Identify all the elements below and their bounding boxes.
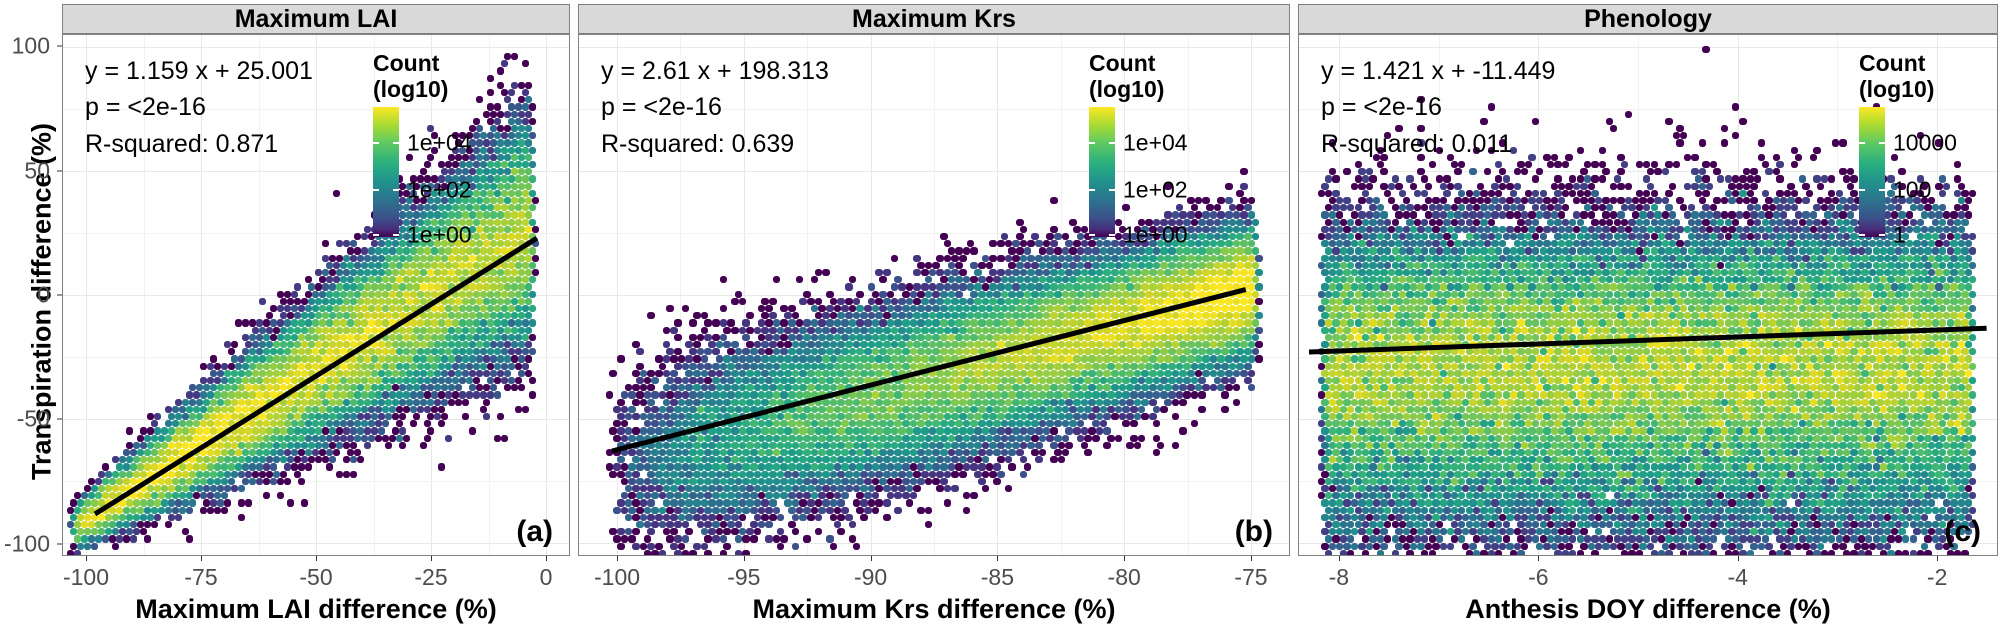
hexbin-cell — [1898, 413, 1905, 420]
hexbin-cell — [929, 269, 937, 276]
hexbin-cell — [632, 471, 640, 478]
hexbin-cell — [849, 463, 857, 470]
hexbin-cell — [970, 305, 978, 312]
hexbin-cell — [731, 499, 739, 506]
hexbin-cell — [1062, 319, 1070, 326]
hexbin-cell — [508, 348, 515, 355]
hexbin-cell — [1073, 283, 1081, 290]
hexbin-cell — [739, 528, 747, 535]
hexbin-cell — [1429, 406, 1436, 413]
panel-title-a: Maximum LAI — [235, 7, 398, 32]
hexbin-cell — [273, 427, 280, 434]
hexbin-cell — [203, 399, 210, 406]
hexbin-cell — [1699, 399, 1706, 406]
hexbin-cell — [1172, 399, 1180, 406]
hexbin-cell — [697, 377, 705, 384]
hexbin-cell — [1027, 355, 1035, 362]
hexbin-cell — [621, 420, 629, 427]
hexbin-cell — [1016, 391, 1024, 398]
hexbin-cell — [522, 319, 529, 326]
hexbin-cell — [427, 283, 434, 290]
hexbin-cell — [413, 413, 420, 420]
hexbin-cell — [792, 442, 800, 449]
hexbin-cell — [1643, 435, 1650, 442]
hexbin-cell — [902, 334, 910, 341]
hexbin-cell — [1035, 442, 1043, 449]
hexbin-cell — [1081, 298, 1089, 305]
hexbin-cell — [837, 370, 845, 377]
hexbin-cell — [487, 334, 494, 341]
hexbin-cell — [1187, 370, 1195, 377]
hexbin-cell — [392, 355, 399, 362]
hexbin-cell — [245, 471, 252, 478]
hexbin-cell — [1321, 499, 1328, 506]
hexbin-cell — [746, 528, 754, 535]
hexbin-cell — [803, 348, 811, 355]
hexbin-cell — [689, 463, 697, 470]
hexbin-cell — [312, 305, 319, 312]
hexbin-cell — [508, 319, 515, 326]
hexbin-cell — [1073, 413, 1081, 420]
hexbin-cell — [1688, 262, 1695, 269]
hexbin-cell — [1050, 399, 1058, 406]
hexbin-cell — [119, 456, 126, 463]
hexbin-cell — [350, 442, 357, 449]
hexbin-cell — [417, 334, 424, 341]
hexbin-cell — [1054, 406, 1062, 413]
hexbin-cell — [1065, 255, 1073, 262]
hexbin-cell — [1126, 327, 1134, 334]
hexbin-cell — [312, 435, 319, 442]
hexbin-cell — [1221, 348, 1229, 355]
hexbin-cell — [1843, 305, 1850, 312]
equation-a: y = 1.159 x + 25.001 — [85, 53, 313, 89]
hexbin-cell — [494, 334, 501, 341]
hexbin-cell — [518, 341, 525, 348]
hexbin-cell — [1447, 442, 1454, 449]
hexbin-cell — [228, 406, 235, 413]
hexbin-cell — [382, 291, 389, 298]
hexbin-cell — [758, 463, 766, 470]
hexbin-cell — [1506, 370, 1513, 377]
hexbin-cell — [1551, 442, 1558, 449]
hexbin-cell — [704, 363, 712, 370]
hexbin-cell — [1248, 298, 1256, 305]
hexbin-cell — [997, 471, 1005, 478]
hexbin-cell — [746, 399, 754, 406]
hexbin-cell — [350, 240, 357, 247]
hexbin-cell — [455, 312, 462, 319]
hexbin-cell — [1954, 391, 1961, 398]
hexbin-cell — [504, 312, 511, 319]
hexbin-cell — [1005, 327, 1013, 334]
hexbin-cell — [441, 355, 448, 362]
hexbin-cell — [894, 319, 902, 326]
hexbin-cell — [515, 305, 522, 312]
hexbin-cell — [913, 255, 921, 262]
hexbin-cell — [336, 283, 343, 290]
hexbin-cell — [864, 391, 872, 398]
hexbin-cell — [357, 413, 364, 420]
hexbin-cell — [872, 334, 880, 341]
hexbin-cell — [1081, 399, 1089, 406]
hexbin-cell — [1092, 334, 1100, 341]
hexbin-cell — [476, 327, 483, 334]
hexbin-cell — [1031, 233, 1039, 240]
hexbin-cell — [898, 442, 906, 449]
hexbin-cell — [214, 406, 221, 413]
hexbin-cell — [1240, 255, 1248, 262]
hexbin-cell — [925, 377, 933, 384]
hexbin-cell — [708, 456, 716, 463]
hexbin-cell — [818, 377, 826, 384]
hexbin-cell — [389, 305, 396, 312]
hexbin-cell — [434, 269, 441, 276]
hexbin-cell — [1595, 327, 1602, 334]
hexbin-cell — [632, 370, 640, 377]
hexbin-cell — [1580, 384, 1587, 391]
hexbin-cell — [1100, 363, 1108, 370]
hexbin-cell — [625, 514, 633, 521]
hexbin-cell — [655, 514, 663, 521]
hexbin-cell — [1107, 291, 1115, 298]
hexbin-cell — [834, 478, 842, 485]
hexbin-cell — [1035, 255, 1043, 262]
hexbin-cell — [1447, 211, 1454, 218]
hexbin-cell — [997, 341, 1005, 348]
hexbin-cell — [811, 463, 819, 470]
hexbin-cell — [1854, 298, 1861, 305]
hexbin-cell — [287, 370, 294, 377]
hexbin-cell — [811, 420, 819, 427]
hexbin-cell — [529, 305, 536, 312]
hexbin-cell — [655, 370, 663, 377]
hexbin-cell — [511, 298, 518, 305]
hexbin-cell — [1027, 327, 1035, 334]
panel-letter-c: (c) — [1944, 515, 1981, 549]
hexbin-cell — [894, 420, 902, 427]
hexbin-cell — [501, 348, 508, 355]
hexbin-cell — [1031, 262, 1039, 269]
hexbin-cell — [133, 499, 140, 506]
hexbin-cell — [1100, 334, 1108, 341]
hexbin-cell — [1499, 485, 1506, 492]
hexbin-cell — [263, 334, 270, 341]
hexbin-cell — [1145, 276, 1153, 283]
hexbin-cell — [682, 463, 690, 470]
hexbin-cell — [807, 485, 815, 492]
hexbin-cell — [357, 298, 364, 305]
hexbin-cell — [231, 384, 238, 391]
hexbin-cell — [739, 399, 747, 406]
hexbin-cell — [1480, 305, 1487, 312]
hexbin-cell — [659, 507, 667, 514]
hexbin-cell — [1065, 399, 1073, 406]
hexbin-cell — [853, 543, 861, 550]
hexbin-cell — [1229, 363, 1237, 370]
hexbin-cell — [685, 514, 693, 521]
hexbin-cell — [445, 305, 452, 312]
hexbin-cell — [799, 442, 807, 449]
hexbin-cell — [997, 456, 1005, 463]
hexbin-cell — [735, 478, 743, 485]
hexbin-cell — [347, 276, 354, 283]
hexbin-cell — [716, 442, 724, 449]
hexbin-cell — [1921, 341, 1928, 348]
hexbin-cell — [70, 543, 77, 550]
hexbin-cell — [144, 435, 151, 442]
hexbin-cell — [175, 442, 182, 449]
hexbin-cell — [978, 406, 986, 413]
hexbin-cell — [978, 435, 986, 442]
hexbin-cell — [765, 463, 773, 470]
hexbin-cell — [133, 442, 140, 449]
hexbin-cell — [750, 435, 758, 442]
hexbin-cell — [333, 406, 340, 413]
hexbin-cell — [989, 413, 997, 420]
hexbin-cell — [1347, 363, 1354, 370]
hexbin-cell — [837, 413, 845, 420]
hexbin-cell — [210, 427, 217, 434]
hexbin-cell — [406, 298, 413, 305]
hexbin-cell — [1928, 269, 1935, 276]
hexbin-cell — [175, 399, 182, 406]
hexbin-cell — [1191, 377, 1199, 384]
hexbin-cell — [420, 442, 427, 449]
hexbin-cell — [522, 348, 529, 355]
hexbin-cell — [1084, 348, 1092, 355]
hexbin-cell — [473, 262, 480, 269]
hexbin-cell — [1414, 305, 1421, 312]
hexbin-cell — [368, 391, 375, 398]
hexbin-cell — [883, 471, 891, 478]
hexbin-cell — [308, 413, 315, 420]
hexbin-cell — [906, 283, 914, 290]
hexbin-cell — [1362, 291, 1369, 298]
hexbin-cell — [445, 334, 452, 341]
hexbin-cell — [742, 463, 750, 470]
hexbin-cell — [959, 471, 967, 478]
hexbin-cell — [1602, 370, 1609, 377]
hexbin-cell — [291, 435, 298, 442]
hexbin-cell — [929, 427, 937, 434]
hexbin-cell — [438, 377, 445, 384]
hexbin-cell — [168, 499, 175, 506]
panel-phenology: Phenology y = 1.421 x + -11.449 p = <2e-… — [1298, 4, 1998, 556]
hexbin-cell — [347, 247, 354, 254]
hexbin-cell — [830, 456, 838, 463]
hexbin-cell — [1236, 348, 1244, 355]
hexbin-cell — [811, 478, 819, 485]
hexbin-cell — [357, 327, 364, 334]
hexbin-cell — [301, 341, 308, 348]
hexbin-cell — [750, 463, 758, 470]
hexbin-cell — [305, 449, 312, 456]
hexbin-cell — [420, 399, 427, 406]
hexbin-cell — [769, 456, 777, 463]
hexbin-cell — [224, 413, 231, 420]
hexbin-cell — [1850, 420, 1857, 427]
hexbin-cell — [1176, 348, 1184, 355]
hexbin-cell — [1062, 348, 1070, 355]
hexbin-cell — [438, 420, 445, 427]
hexbin-cell — [1065, 312, 1073, 319]
hexbin-cell — [483, 399, 490, 406]
hexbin-cell — [704, 348, 712, 355]
hexbin-cell — [445, 391, 452, 398]
hexbin-cell — [674, 492, 682, 499]
hexbin-cell — [910, 305, 918, 312]
hexbin-cell — [504, 341, 511, 348]
hexbin-cell — [504, 240, 511, 247]
hexbin-cell — [1824, 442, 1831, 449]
hexbin-cell — [287, 327, 294, 334]
hexbin-cell — [815, 499, 823, 506]
hexbin-cell — [298, 449, 305, 456]
hexbin-cell — [343, 269, 350, 276]
hexbin-cell — [263, 478, 270, 485]
hexbin-cell — [974, 471, 982, 478]
hexbin-cell — [1134, 255, 1142, 262]
hexbin-cell — [277, 334, 284, 341]
hexbin-cell — [298, 463, 305, 470]
hexbin-cell — [1392, 291, 1399, 298]
hexbin-cell — [841, 406, 849, 413]
hexbin-cell — [655, 485, 663, 492]
hexbin-cell — [1817, 355, 1824, 362]
hexbin-cell — [1632, 298, 1639, 305]
hexbin-cell — [856, 348, 864, 355]
hexbin-cell — [1054, 276, 1062, 283]
hexbin-cell — [1027, 384, 1035, 391]
hexbin-cell — [788, 363, 796, 370]
hexbin-cell — [651, 449, 659, 456]
hexbin-cell — [67, 507, 74, 514]
hexbin-cell — [469, 312, 476, 319]
hexbin-cell — [172, 435, 179, 442]
hexbin-cell — [1950, 298, 1957, 305]
hexbin-cell — [326, 463, 333, 470]
hexbin-cell — [910, 348, 918, 355]
hexbin-cell — [879, 319, 887, 326]
hexbin-cell — [1164, 370, 1172, 377]
hexbin-cell — [1373, 399, 1380, 406]
hexbin-cell — [818, 363, 826, 370]
hexbin-cell — [701, 456, 709, 463]
hexbin-cell — [811, 449, 819, 456]
hexbin-cell — [1092, 435, 1100, 442]
hexbin-cell — [1001, 406, 1009, 413]
hexbin-cell — [249, 363, 256, 370]
hexbin-cell — [378, 341, 385, 348]
hexbin-cell — [399, 327, 406, 334]
hexbin-cell — [1176, 262, 1184, 269]
hexbin-cell — [249, 319, 256, 326]
hexbin-cell — [1217, 255, 1225, 262]
hexbin-cell — [284, 305, 291, 312]
hexbin-cell — [609, 370, 617, 377]
hexbin-cell — [193, 391, 200, 398]
hexbin-cell — [1636, 363, 1643, 370]
hexbin-cell — [1069, 406, 1077, 413]
hexbin-cell — [1935, 427, 1942, 434]
hexbin-cell — [860, 399, 868, 406]
hexbin-cell — [815, 327, 823, 334]
hexbin-cell — [529, 319, 536, 326]
hexbin-cell — [1969, 435, 1976, 442]
hexbin-cell — [1536, 471, 1543, 478]
hexbin-cell — [788, 334, 796, 341]
hexbin-cell — [529, 377, 536, 384]
hexbin-cell — [1573, 327, 1580, 334]
hexbin-cell — [347, 363, 354, 370]
hexbin-cell — [758, 420, 766, 427]
hexbin-cell — [165, 478, 172, 485]
hexbin-cell — [944, 269, 952, 276]
hexbin-cell — [879, 463, 887, 470]
hexbin-cell — [796, 463, 804, 470]
hexbin-cell — [529, 175, 536, 182]
hexbin-cell — [822, 327, 830, 334]
hexbin-cell — [815, 269, 823, 276]
hexbin-cell — [925, 435, 933, 442]
hexbin-cell — [1122, 291, 1130, 298]
hexbin-cell — [508, 276, 515, 283]
hexbin-cell — [955, 305, 963, 312]
hexbin-cell — [319, 435, 326, 442]
hexbin-cell — [1617, 283, 1624, 290]
hexbin-cell — [720, 521, 728, 528]
hexbin-cell — [473, 319, 480, 326]
hexbin-cell — [186, 406, 193, 413]
hexbin-cell — [910, 449, 918, 456]
hexbin-cell — [1141, 384, 1149, 391]
hexbin-cell — [263, 463, 270, 470]
hexbin-cell — [1179, 384, 1187, 391]
hexbin-cell — [126, 499, 133, 506]
hexbin-cell — [712, 319, 720, 326]
hexbin-cell — [1329, 413, 1336, 420]
hexbin-cell — [712, 334, 720, 341]
hexbin-cell — [955, 435, 963, 442]
hexbin-cell — [746, 471, 754, 478]
hexbin-cell — [948, 291, 956, 298]
hexbin-cell — [853, 312, 861, 319]
hexbin-cell — [963, 377, 971, 384]
hexbin-cell — [1884, 341, 1891, 348]
hexbin-cell — [1107, 348, 1115, 355]
hexbin-cell — [165, 435, 172, 442]
hexbin-cell — [1225, 370, 1233, 377]
hexbin-cell — [434, 255, 441, 262]
hexbin-cell — [326, 305, 333, 312]
hexbin-cell — [168, 442, 175, 449]
hexbin-cell — [480, 247, 487, 254]
hexbin-cell — [1884, 370, 1891, 377]
hexbin-cell — [1016, 262, 1024, 269]
hexbin-cell — [270, 449, 277, 456]
hexbin-cell — [235, 391, 242, 398]
hexbin-cell — [245, 341, 252, 348]
hexbin-cell — [497, 269, 504, 276]
hexbin-cell — [1791, 161, 1798, 168]
hexbin-cell — [826, 435, 834, 442]
hexbin-cell — [1217, 240, 1225, 247]
hexbin-cell — [913, 384, 921, 391]
hexbin-cell — [343, 255, 350, 262]
hexbin-cell — [1421, 291, 1428, 298]
hexbin-cell — [1569, 219, 1576, 226]
